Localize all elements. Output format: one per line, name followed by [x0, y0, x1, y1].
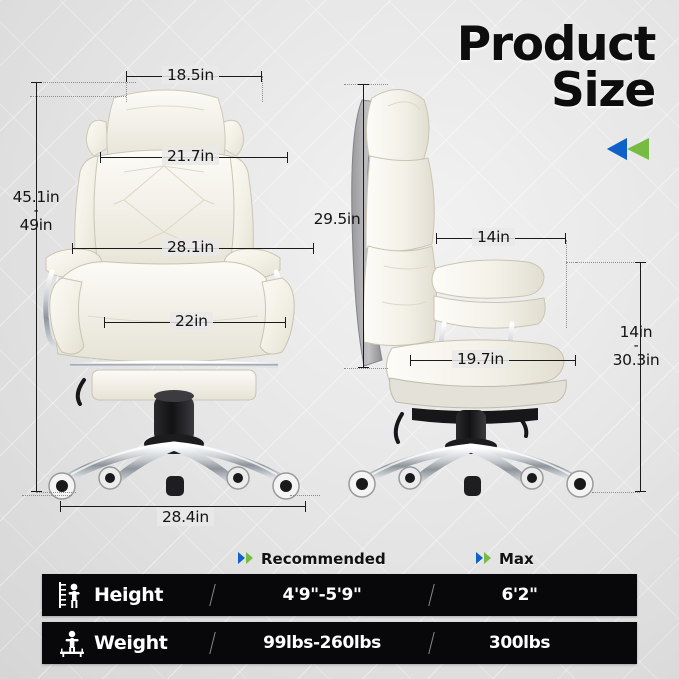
front-view-chair	[28, 80, 320, 500]
dim-label-armrest-depth: 14in	[472, 228, 515, 246]
product-size-infographic: Product Size	[0, 0, 679, 679]
spec-column-recommended: Recommended	[238, 550, 386, 568]
guide-height-top	[36, 82, 136, 83]
spec-table-header: Recommended Max	[0, 548, 679, 574]
weight-scale-person-icon	[52, 629, 92, 657]
spec-value-height-recommended: 4'9"-5'9"	[213, 585, 431, 605]
dim-label-seat-depth: 19.7in	[452, 350, 509, 368]
spec-column-max: Max	[476, 550, 534, 568]
spec-row-label-weight: Weight	[94, 632, 212, 654]
brand-double-arrow-icon	[601, 136, 653, 162]
guide-headrest-left	[30, 96, 126, 97]
dim-label-overall-width: 28.1in	[162, 238, 219, 256]
guide-seat-height-top	[576, 262, 640, 263]
guide-backrest-bottom	[344, 368, 388, 369]
spec-column-recommended-label: Recommended	[261, 550, 386, 568]
spec-value-weight-max: 300lbs	[432, 633, 637, 653]
dim-label-overall-height-line2: 49in	[0, 218, 72, 234]
spec-table: Recommended Max	[0, 548, 679, 670]
height-ruler-person-icon	[52, 581, 92, 609]
dim-label-seat-width: 22in	[170, 312, 213, 330]
spec-value-height-max: 6'2"	[432, 585, 637, 605]
table-row: Weight 99lbs-260lbs 300lbs	[42, 622, 637, 664]
dim-label-seat-height-line2: 30.3in	[596, 353, 676, 369]
guide-base-right	[290, 495, 320, 496]
dim-label-backrest-width: 21.7in	[162, 147, 219, 165]
guide-headrest-v-right	[262, 76, 263, 102]
dim-label-seat-height: 14in - 30.3in	[596, 325, 676, 368]
dim-label-backrest-height: 29.5in	[306, 212, 368, 228]
dim-line-seat-height	[640, 262, 641, 492]
dim-line-base-width	[60, 506, 306, 507]
double-chevron-icon	[238, 550, 255, 568]
spec-row-label-height: Height	[94, 584, 212, 606]
guide-seat-height-bottom	[592, 492, 640, 493]
spec-value-weight-recommended: 99lbs-260lbs	[213, 633, 431, 653]
guide-height-bottom	[36, 492, 76, 493]
guide-armrest-right	[566, 240, 567, 328]
spec-column-max-label: Max	[499, 550, 534, 568]
guide-base-left	[22, 495, 72, 496]
dim-label-backrest-height-value: 29.5in	[306, 212, 368, 228]
dim-line-overall-height	[36, 82, 37, 492]
table-row: Height 4'9"-5'9" 6'2"	[42, 574, 637, 616]
dim-label-overall-height: 45.1in - 49in	[0, 190, 72, 233]
double-chevron-icon	[476, 550, 493, 568]
dim-label-base-width: 28.4in	[157, 508, 214, 526]
dim-label-headrest-width: 18.5in	[162, 66, 219, 84]
